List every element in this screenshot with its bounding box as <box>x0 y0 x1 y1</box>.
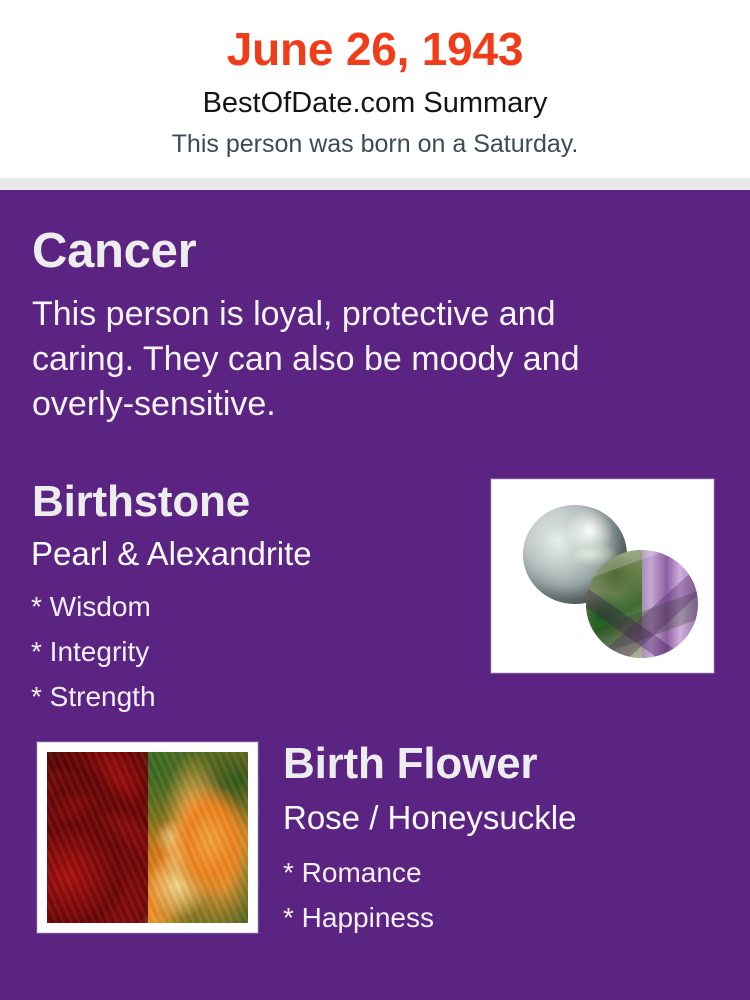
summary-card: June 26, 1943 BestOfDate.com Summary Thi… <box>0 0 750 1000</box>
zodiac-sign-title: Cancer <box>32 223 196 279</box>
list-item: * Happiness <box>283 895 683 940</box>
birth-flower-traits-list: * Romance * Happiness <box>283 850 683 940</box>
list-item: * Romance <box>283 850 683 895</box>
list-item: * Strength <box>31 674 361 719</box>
details-panel: Cancer This person is loyal, protective … <box>0 190 750 1000</box>
birth-flower-image <box>47 752 248 923</box>
birthstone-image-frame <box>491 479 714 673</box>
honeysuckle-photo-icon <box>148 752 249 923</box>
list-item: * Integrity <box>31 629 361 674</box>
site-summary-label: BestOfDate.com Summary <box>0 85 750 121</box>
page-title-date: June 26, 1943 <box>0 22 750 76</box>
alexandrite-gem-icon <box>586 550 698 658</box>
birthstone-traits-list: * Wisdom * Integrity * Strength <box>31 584 361 719</box>
alexandrite-facets <box>586 550 698 658</box>
rose-photo-icon <box>47 752 148 923</box>
list-item: * Wisdom <box>31 584 361 629</box>
zodiac-description: This person is loyal, protective and car… <box>32 292 652 427</box>
birthstone-value: Pearl & Alexandrite <box>31 534 312 574</box>
birth-day-note: This person was born on a Saturday. <box>0 128 750 160</box>
birth-flower-title: Birth Flower <box>283 738 537 790</box>
birthstone-image <box>501 489 704 663</box>
birth-flower-value: Rose / Honeysuckle <box>283 798 576 838</box>
header-divider <box>0 178 750 190</box>
card-header: June 26, 1943 BestOfDate.com Summary Thi… <box>0 0 750 178</box>
birthstone-title: Birthstone <box>32 477 250 527</box>
birth-flower-image-frame <box>37 742 258 933</box>
